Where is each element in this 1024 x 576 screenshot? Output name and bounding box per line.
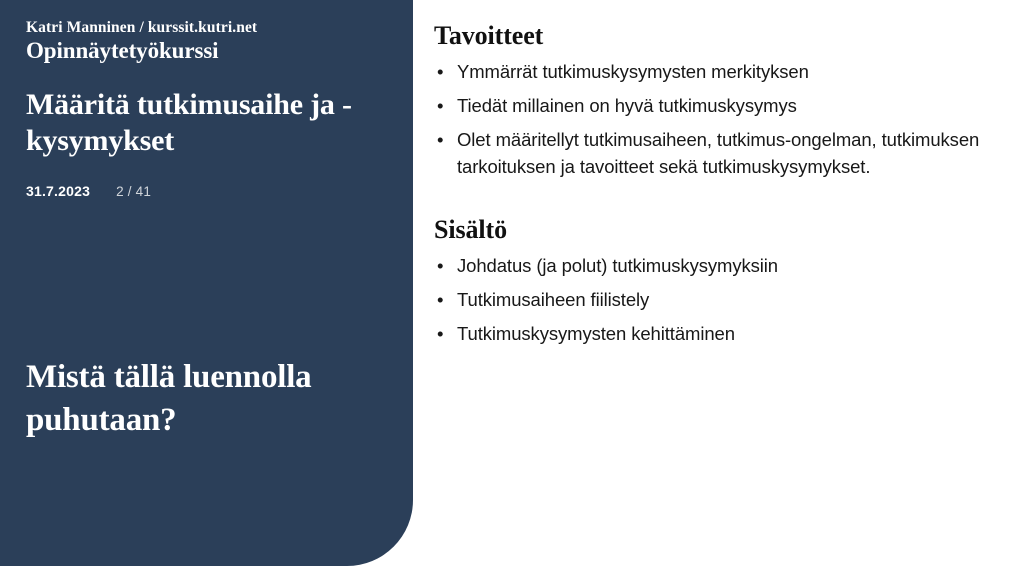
bullet-icon: •: [437, 126, 443, 153]
list-item: • Tutkimusaiheen fiilistely: [434, 286, 1004, 313]
slide-date: 31.7.2023: [26, 183, 90, 199]
slide: Katri Manninen / kurssit.kutri.net Opinn…: [0, 0, 1024, 576]
list-item: • Johdatus (ja polut) tutkimuskysymyksii…: [434, 252, 1004, 279]
bullet-icon: •: [437, 58, 443, 85]
list-item: • Tutkimuskysymysten kehittäminen: [434, 320, 1004, 347]
panel-question-heading: Mistä tällä luennolla puhutaan?: [26, 356, 366, 442]
section-heading-goals: Tavoitteet: [434, 20, 1004, 52]
content-area: Tavoitteet • Ymmärrät tutkimuskysymysten…: [434, 20, 1004, 347]
course-author-line: Katri Manninen / kurssit.kutri.net: [26, 18, 387, 37]
list-item-text: Tiedät millainen on hyvä tutkimuskysymys: [457, 95, 797, 116]
slide-title: Määritä tutkimusaihe ja -kysymykset: [26, 87, 387, 159]
bullet-icon: •: [437, 286, 443, 313]
list-item-text: Ymmärrät tutkimuskysymysten merkityksen: [457, 61, 809, 82]
bullet-icon: •: [437, 92, 443, 119]
course-title: Opinnäytetyökurssi: [26, 37, 387, 65]
section-contents: Sisältö • Johdatus (ja polut) tutkimusky…: [434, 214, 1004, 347]
slide-meta-row: 31.7.2023 2 / 41: [26, 183, 387, 199]
list-item-text: Tutkimusaiheen fiilistely: [457, 289, 649, 310]
page-indicator: 2 / 41: [116, 184, 151, 199]
list-item: • Tiedät millainen on hyvä tutkimuskysym…: [434, 92, 1004, 119]
list-item-text: Johdatus (ja polut) tutkimuskysymyksiin: [457, 255, 778, 276]
list-item: • Ymmärrät tutkimuskysymysten merkitykse…: [434, 58, 1004, 85]
list-item-text: Tutkimuskysymysten kehittäminen: [457, 323, 735, 344]
list-item-text: Olet määritellyt tutkimusaiheen, tutkimu…: [457, 129, 979, 177]
list-item: • Olet määritellyt tutkimusaiheen, tutki…: [434, 126, 1004, 180]
bullet-list-contents: • Johdatus (ja polut) tutkimuskysymyksii…: [434, 252, 1004, 347]
section-heading-contents: Sisältö: [434, 214, 1004, 246]
bullet-icon: •: [437, 252, 443, 279]
bullet-list-goals: • Ymmärrät tutkimuskysymysten merkitykse…: [434, 58, 1004, 180]
section-goals: Tavoitteet • Ymmärrät tutkimuskysymysten…: [434, 20, 1004, 180]
bullet-icon: •: [437, 320, 443, 347]
title-panel: Katri Manninen / kurssit.kutri.net Opinn…: [0, 0, 413, 566]
